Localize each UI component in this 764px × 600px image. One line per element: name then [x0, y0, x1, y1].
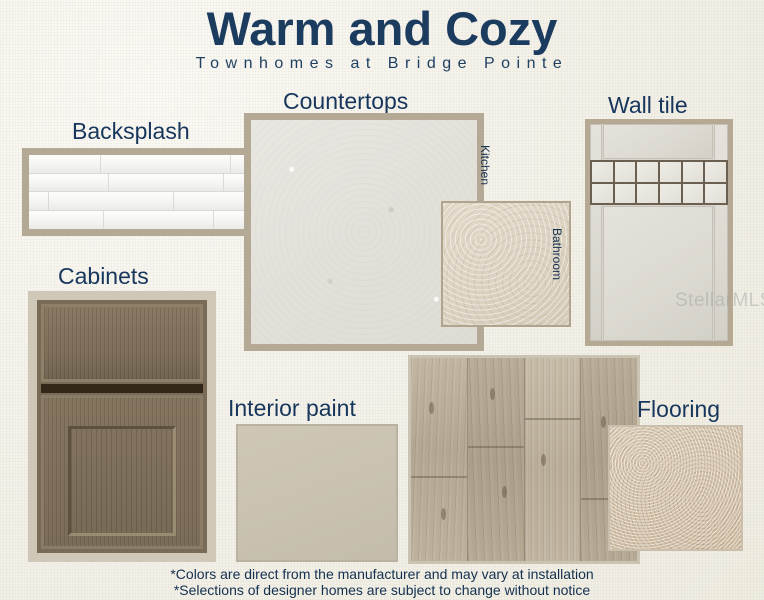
- footer-disclaimer-line-2: *Selections of designer homes are subjec…: [0, 582, 764, 598]
- mosaic-tile: [705, 184, 726, 204]
- label-cabinets: Cabinets: [58, 263, 149, 290]
- mosaic-tile: [683, 162, 704, 182]
- plank-seam: [411, 476, 467, 478]
- sample-flooring-wood: [408, 355, 640, 564]
- cabinet-door: [41, 395, 203, 549]
- cabinet-reveal-gap: [41, 384, 203, 393]
- tile: [101, 155, 231, 173]
- sample-wall-tile: [585, 119, 733, 346]
- page-subtitle: Townhomes at Bridge Pointe: [0, 55, 764, 73]
- sample-interior-paint: [236, 424, 398, 562]
- mosaic-tile: [592, 162, 613, 182]
- wood-knot: [490, 388, 495, 400]
- tile-panel: [603, 206, 713, 341]
- tile-strip-right: [714, 124, 728, 341]
- label-backsplash: Backsplash: [72, 118, 190, 145]
- tile-strip-left: [590, 124, 602, 341]
- wood-knot: [541, 454, 546, 466]
- wood-knot: [601, 416, 606, 428]
- mosaic-tile: [615, 162, 636, 182]
- selection-board: Warm and Cozy Townhomes at Bridge Pointe…: [0, 0, 764, 600]
- tile-panel: [603, 124, 713, 159]
- wood-knot: [429, 402, 434, 414]
- plank-seam: [525, 418, 581, 420]
- cabinet-drawer-front: [41, 304, 203, 382]
- sample-flooring-carpet: [608, 425, 743, 551]
- wood-knot: [502, 486, 507, 498]
- label-interior-paint: Interior paint: [228, 395, 356, 422]
- tile: [104, 211, 214, 230]
- label-bathroom: Bathroom: [550, 228, 564, 280]
- tile: [49, 192, 174, 210]
- mosaic-tile: [615, 184, 636, 204]
- mosaic-tile: [592, 184, 613, 204]
- tile: [109, 174, 224, 192]
- tile: [22, 211, 104, 230]
- mosaic-tile: [660, 162, 681, 182]
- label-flooring: Flooring: [637, 396, 720, 423]
- wood-plank: [468, 358, 525, 561]
- sample-cabinets: [28, 291, 216, 562]
- wood-knot: [441, 508, 446, 520]
- plank-seam: [468, 446, 524, 448]
- page-title: Warm and Cozy: [0, 4, 764, 53]
- tile: [22, 174, 109, 192]
- wood-plank: [525, 358, 582, 561]
- tile: [22, 155, 101, 173]
- wood-plank: [411, 358, 468, 561]
- footer-disclaimer-line-1: *Colors are direct from the manufacturer…: [0, 566, 764, 582]
- cabinet-door-inset-panel: [68, 426, 176, 536]
- mosaic-tile: [705, 162, 726, 182]
- label-kitchen: Kitchen: [478, 145, 492, 185]
- label-countertops: Countertops: [283, 88, 408, 115]
- mosaic-tile: [637, 162, 658, 182]
- mosaic-accent-band: [590, 160, 728, 205]
- mosaic-tile: [683, 184, 704, 204]
- mosaic-tile: [637, 184, 658, 204]
- mosaic-tile: [660, 184, 681, 204]
- tile: [22, 192, 49, 210]
- label-wall-tile: Wall tile: [608, 92, 688, 119]
